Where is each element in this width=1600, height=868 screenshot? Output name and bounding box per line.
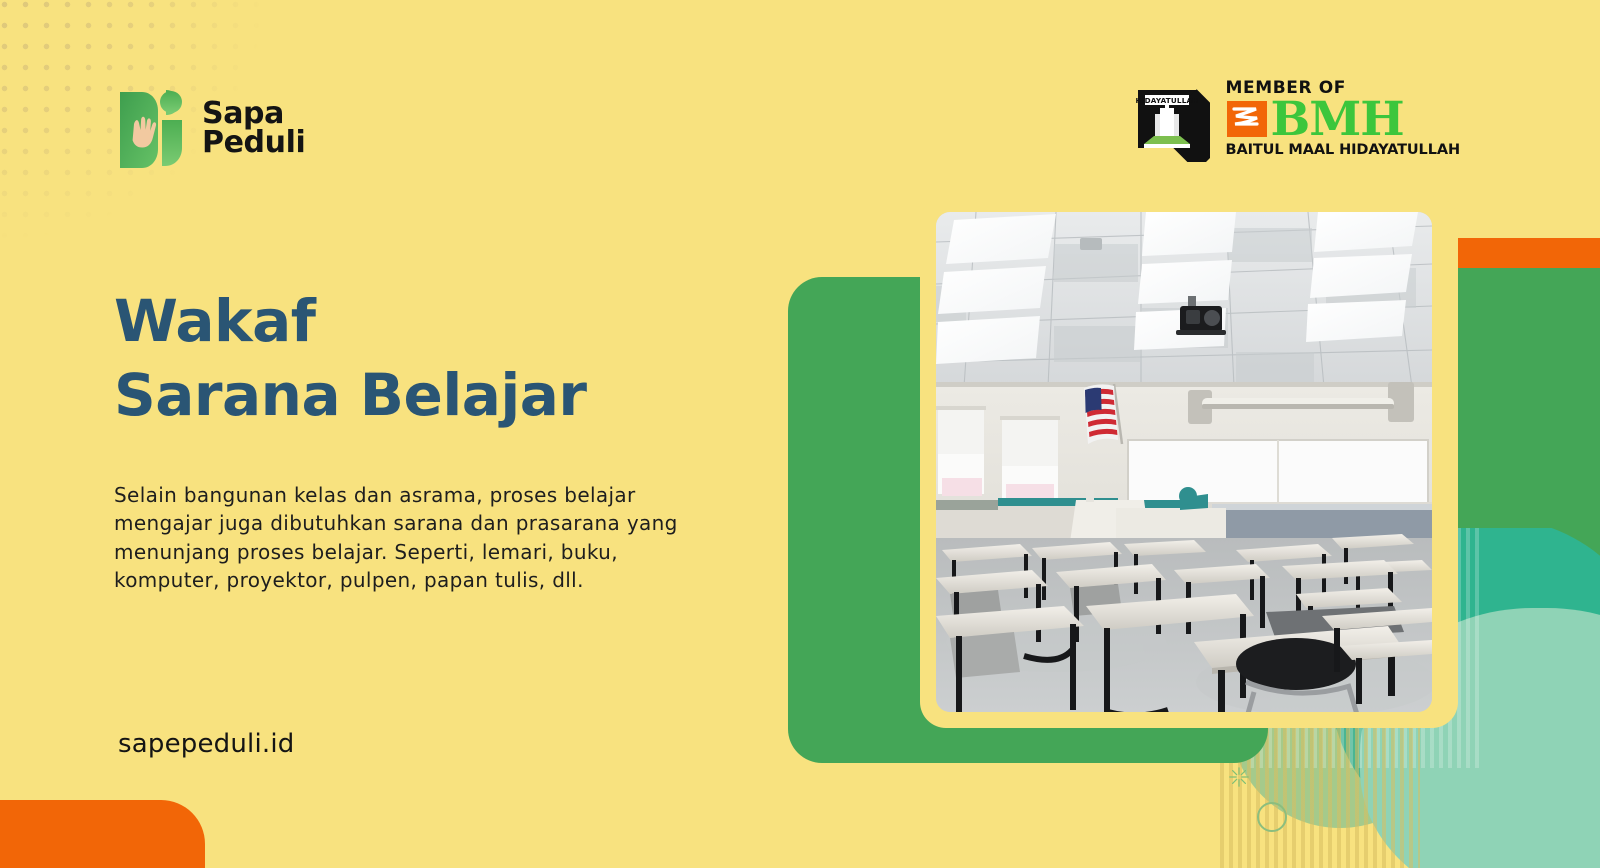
bmh-text-block: MEMBER OF BMH BAITUL MAAL HIDAYATULLAH xyxy=(1226,79,1461,159)
poster-canvas: Sapa Peduli HIDAYATULLAH MEMBER OF xyxy=(0,0,1600,868)
classroom-photo-illustration xyxy=(936,212,1432,712)
body-paragraph: Selain bangunan kelas dan asrama, proses… xyxy=(114,481,684,595)
page-title: Wakaf Sarana Belajar xyxy=(114,284,734,432)
svg-text:HIDAYATULLAH: HIDAYATULLAH xyxy=(1135,96,1198,105)
leaf-hand-logo-icon xyxy=(112,88,188,168)
classroom-photo xyxy=(936,212,1432,712)
headline-line-2: Sarana Belajar xyxy=(114,358,734,432)
circle-outline-icon xyxy=(1257,802,1287,832)
bmh-swirl-icon xyxy=(1226,99,1268,139)
headline-line-1: Wakaf xyxy=(114,287,316,355)
website-url[interactable]: sapepeduli.id xyxy=(118,729,295,759)
brand-name-line2: Peduli xyxy=(202,128,305,157)
brand-wordmark: Sapa Peduli xyxy=(202,99,305,158)
sparkle-icon xyxy=(1228,766,1250,788)
bmh-acronym-row: BMH xyxy=(1226,97,1461,142)
orange-stripe-shape xyxy=(1448,238,1600,268)
bmh-acronym: BMH xyxy=(1271,97,1404,142)
orange-corner-shape xyxy=(0,800,205,868)
hidayatullah-emblem-icon: HIDAYATULLAH xyxy=(1124,76,1210,162)
bmh-full-name: BAITUL MAAL HIDAYATULLAH xyxy=(1226,143,1461,159)
sapa-peduli-logo[interactable]: Sapa Peduli xyxy=(112,88,305,168)
bmh-partner-logo[interactable]: HIDAYATULLAH MEMBER OF BMH BAITUL MAAL H… xyxy=(1124,76,1461,162)
brand-name-line1: Sapa xyxy=(202,99,305,128)
